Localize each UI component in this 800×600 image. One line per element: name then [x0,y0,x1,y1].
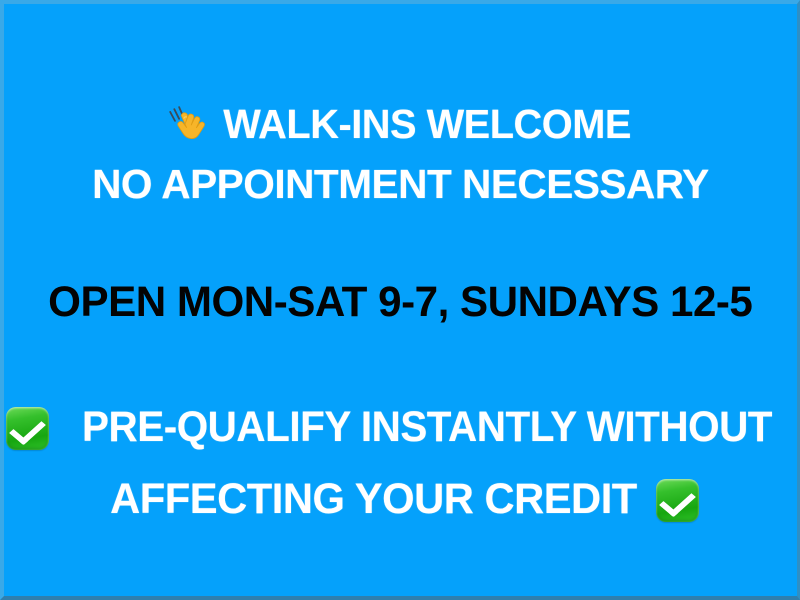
white-check-mark-icon [656,479,699,522]
white-check-mark-icon [6,407,49,450]
sign-line-prequalify: PRE-QUALIFY INSTANTLY WITHOUT [4,400,797,454]
sign-line-hours: OPEN MON-SAT 9-7, SUNDAYS 12-5 [4,276,797,328]
sign-line-prequalify-text: PRE-QUALIFY INSTANTLY WITHOUT [82,403,772,452]
sign-line-hours-text: OPEN MON-SAT 9-7, SUNDAYS 12-5 [48,278,752,327]
waving-hand-icon [164,103,208,147]
sign-line-walkins: WALK-INS WELCOME [4,98,797,150]
sign-line-walkins-text: WALK-INS WELCOME [223,101,631,148]
sign-line-affecting-credit-text: AFFECTING YOUR CREDIT [110,475,637,524]
sign-background: WALK-INS WELCOME NO APPOINTMENT NECESSAR… [4,4,797,596]
sign-line-affecting-credit: AFFECTING YOUR CREDIT [4,472,797,526]
sign-line-no-appointment: NO APPOINTMENT NECESSARY [4,158,797,210]
promotional-sign: WALK-INS WELCOME NO APPOINTMENT NECESSAR… [0,0,800,600]
sign-line-no-appointment-text: NO APPOINTMENT NECESSARY [92,161,709,208]
